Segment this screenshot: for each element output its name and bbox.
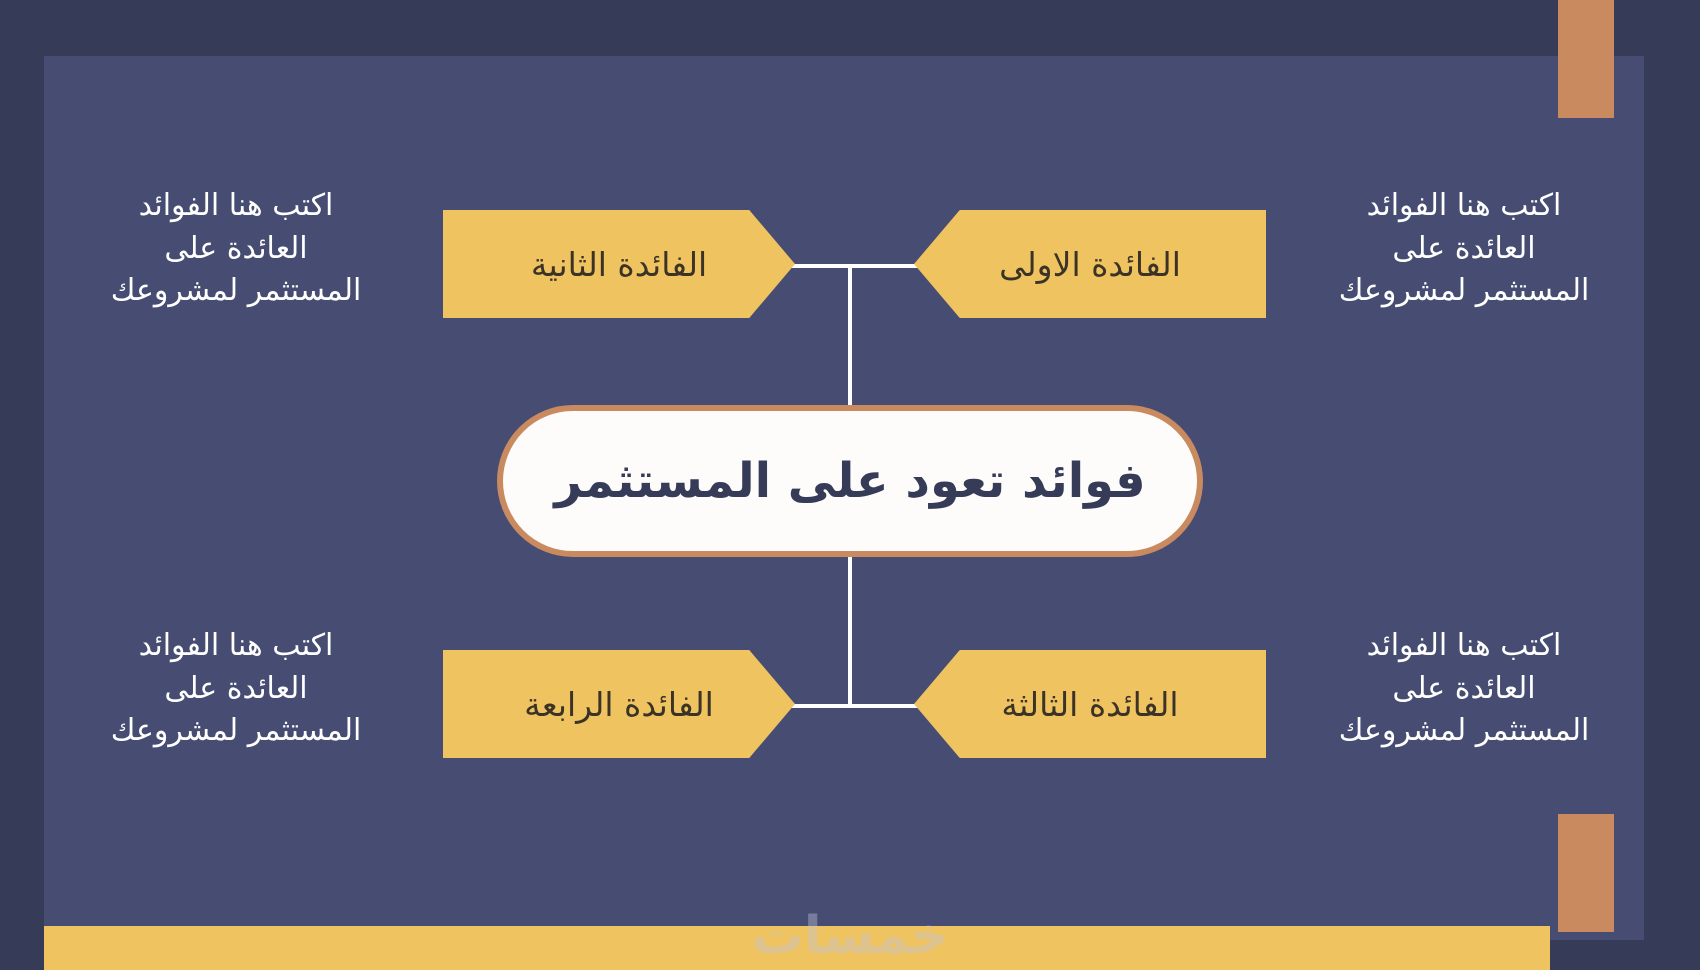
bottom-gold-band bbox=[44, 926, 1550, 970]
description-benefit-1-line-2: العائدة على bbox=[1314, 228, 1614, 271]
hexagon-benefit-4-label: الفائدة الرابعة bbox=[524, 685, 714, 724]
description-benefit-1-line-1: اكتب هنا الفوائد bbox=[1314, 185, 1614, 228]
hexagon-benefit-1-label: الفائدة الاولى bbox=[999, 245, 1181, 284]
hexagon-benefit-3[interactable]: الفائدة الثالثة bbox=[914, 650, 1266, 758]
accent-bar-bottom-right bbox=[1558, 814, 1614, 932]
description-benefit-3-line-3: المستثمر لمشروعك bbox=[1314, 710, 1614, 753]
center-node-title: فوائد تعود على المستثمر bbox=[554, 453, 1145, 509]
infographic-slide: فوائد تعود على المستثمر الفائدة الاولى ا… bbox=[0, 0, 1700, 970]
hexagon-benefit-2[interactable]: الفائدة الثانية bbox=[443, 210, 795, 318]
description-benefit-4-line-2: العائدة على bbox=[86, 668, 386, 711]
description-benefit-2-line-2: العائدة على bbox=[86, 228, 386, 271]
accent-bar-top-right bbox=[1558, 0, 1614, 118]
description-benefit-4-line-3: المستثمر لمشروعك bbox=[86, 710, 386, 753]
description-benefit-3-line-1: اكتب هنا الفوائد bbox=[1314, 625, 1614, 668]
description-benefit-2: اكتب هنا الفوائد العائدة على المستثمر لم… bbox=[86, 185, 386, 313]
hexagon-benefit-3-label: الفائدة الثالثة bbox=[1001, 685, 1178, 724]
description-benefit-1: اكتب هنا الفوائد العائدة على المستثمر لم… bbox=[1314, 185, 1614, 313]
connector-top-horizontal bbox=[790, 264, 920, 268]
description-benefit-4: اكتب هنا الفوائد العائدة على المستثمر لم… bbox=[86, 625, 386, 753]
description-benefit-2-line-3: المستثمر لمشروعك bbox=[86, 270, 386, 313]
description-benefit-4-line-1: اكتب هنا الفوائد bbox=[86, 625, 386, 668]
connector-top-vertical bbox=[848, 264, 852, 416]
connector-bottom-vertical bbox=[848, 556, 852, 708]
description-benefit-1-line-3: المستثمر لمشروعك bbox=[1314, 270, 1614, 313]
description-benefit-3-line-2: العائدة على bbox=[1314, 668, 1614, 711]
connector-bottom-horizontal bbox=[790, 704, 920, 708]
center-node[interactable]: فوائد تعود على المستثمر bbox=[497, 405, 1203, 557]
description-benefit-3: اكتب هنا الفوائد العائدة على المستثمر لم… bbox=[1314, 625, 1614, 753]
description-benefit-2-line-1: اكتب هنا الفوائد bbox=[86, 185, 386, 228]
hexagon-benefit-2-label: الفائدة الثانية bbox=[531, 245, 707, 284]
hexagon-benefit-1[interactable]: الفائدة الاولى bbox=[914, 210, 1266, 318]
hexagon-benefit-4[interactable]: الفائدة الرابعة bbox=[443, 650, 795, 758]
